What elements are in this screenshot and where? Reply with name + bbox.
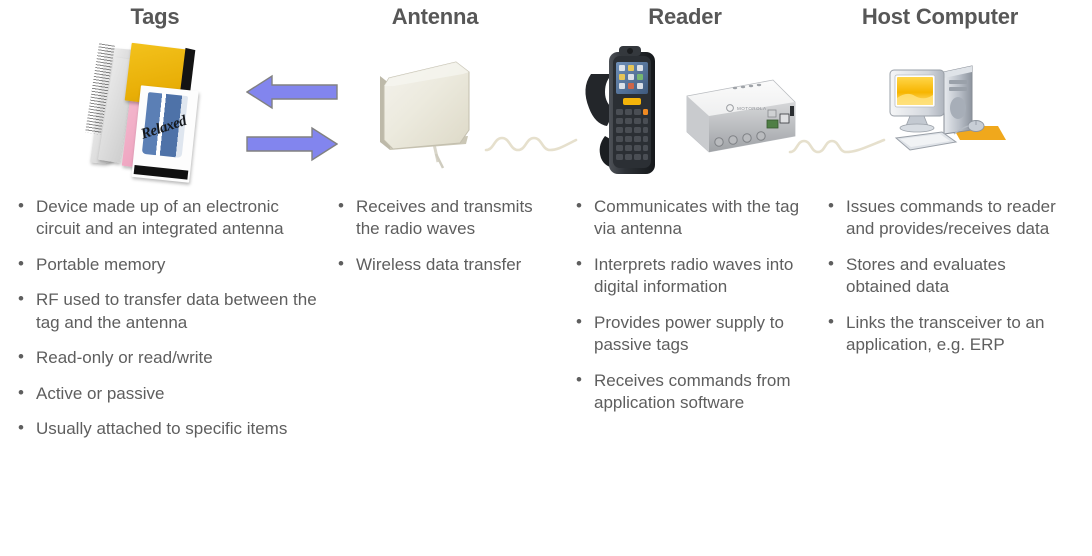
list-item: Usually attached to specific items	[10, 418, 320, 440]
column-title-antenna: Antenna	[340, 4, 530, 30]
list-item: Device made up of an electronic circuit …	[10, 196, 320, 241]
list-item: Portable memory	[10, 254, 320, 276]
svg-text:MOTOROLA: MOTOROLA	[737, 106, 767, 111]
bullets-column-tags: Device made up of an electronic circuit …	[10, 196, 320, 454]
list-item: Stores and evaluates obtained data	[820, 254, 1065, 299]
bullets-column-host-computer: Issues commands to reader and provides/r…	[820, 196, 1065, 370]
bullets-column-reader: Communicates with the tag via antenna In…	[568, 196, 818, 428]
reader-host-rf-link	[788, 128, 896, 170]
list-item: Active or passive	[10, 383, 320, 405]
rfid-reader-devices-image: MOTOROLA	[575, 44, 800, 184]
arrow-left-icon	[246, 74, 338, 110]
tag-jeans-card: Relaxed	[131, 85, 198, 183]
list-item: Provides power supply to passive tags	[568, 312, 818, 357]
tag-black-band	[134, 165, 189, 180]
bullet-list-host-computer: Issues commands to reader and provides/r…	[820, 196, 1065, 357]
list-item: Receives commands from application softw…	[568, 370, 818, 415]
tag-antenna-arrows	[246, 74, 346, 170]
list-item: RF used to transfer data between the tag…	[10, 289, 320, 334]
bullet-list-antenna: Receives and transmits the radio waves W…	[330, 196, 560, 276]
rfid-panel-antenna-image	[370, 50, 490, 170]
bullets-column-antenna: Receives and transmits the radio waves W…	[330, 196, 560, 289]
bullet-list-reader: Communicates with the tag via antenna In…	[568, 196, 818, 415]
antenna-reader-rf-link	[484, 124, 594, 166]
column-title-reader: Reader	[590, 4, 780, 30]
bullet-columns: Device made up of an electronic circuit …	[0, 196, 1092, 556]
list-item: Interprets radio waves into digital info…	[568, 254, 818, 299]
bullet-list-tags: Device made up of an electronic circuit …	[10, 196, 320, 441]
list-item: Receives and transmits the radio waves	[330, 196, 560, 241]
desktop-computer-image	[880, 54, 1010, 174]
list-item: Communicates with the tag via antenna	[568, 196, 818, 241]
artwork-band: Relaxed	[0, 36, 1092, 196]
list-item: Wireless data transfer	[330, 254, 560, 276]
arrow-right-icon	[246, 126, 338, 162]
list-item: Links the transceiver to an application,…	[820, 312, 1065, 357]
column-title-tags: Tags	[60, 4, 250, 30]
list-item: Issues commands to reader and provides/r…	[820, 196, 1065, 241]
column-headers: Tags Antenna Reader Host Computer	[0, 0, 1092, 40]
list-item: Read-only or read/write	[10, 347, 320, 369]
rfid-system-diagram: Tags Antenna Reader Host Computer Relaxe…	[0, 0, 1092, 556]
column-title-host-computer: Host Computer	[840, 4, 1040, 30]
rfid-hang-tags-image: Relaxed	[92, 44, 222, 184]
